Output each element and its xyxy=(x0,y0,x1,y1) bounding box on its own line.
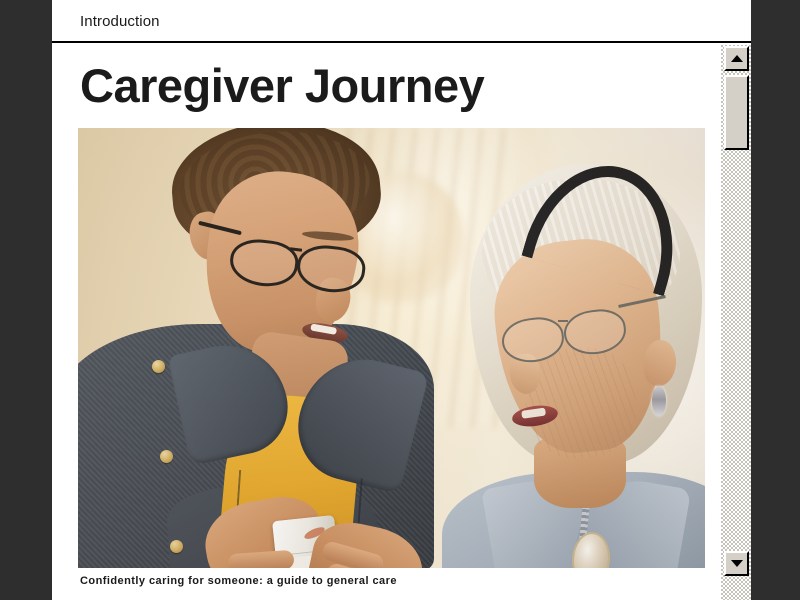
breadcrumb-introduction: Introduction xyxy=(80,13,160,31)
chevron-down-icon xyxy=(731,560,743,567)
woman-earring xyxy=(652,386,666,416)
man-shirt-button xyxy=(152,360,165,373)
scrollbar-thumb[interactable] xyxy=(724,75,749,150)
man-shirt-button xyxy=(170,540,183,553)
content-viewport: Caregiver Journey xyxy=(52,45,720,600)
left-gutter xyxy=(0,0,52,600)
photo-caption: Confidently caring for someone: a guide … xyxy=(80,574,397,588)
scroll-down-button[interactable] xyxy=(724,551,749,576)
scroll-up-button[interactable] xyxy=(724,46,749,71)
page-header: Introduction xyxy=(52,0,751,43)
man-shirt-button xyxy=(160,450,173,463)
woman-glasses-bridge xyxy=(558,320,568,322)
document-page: Introduction Caregiver Journey xyxy=(52,0,751,600)
application-window: Introduction Caregiver Journey xyxy=(0,0,800,600)
chevron-up-icon xyxy=(731,55,743,62)
hero-photo xyxy=(78,128,705,568)
page-title: Caregiver Journey xyxy=(80,57,484,115)
right-gutter xyxy=(751,0,800,600)
vertical-scrollbar[interactable] xyxy=(720,45,751,600)
